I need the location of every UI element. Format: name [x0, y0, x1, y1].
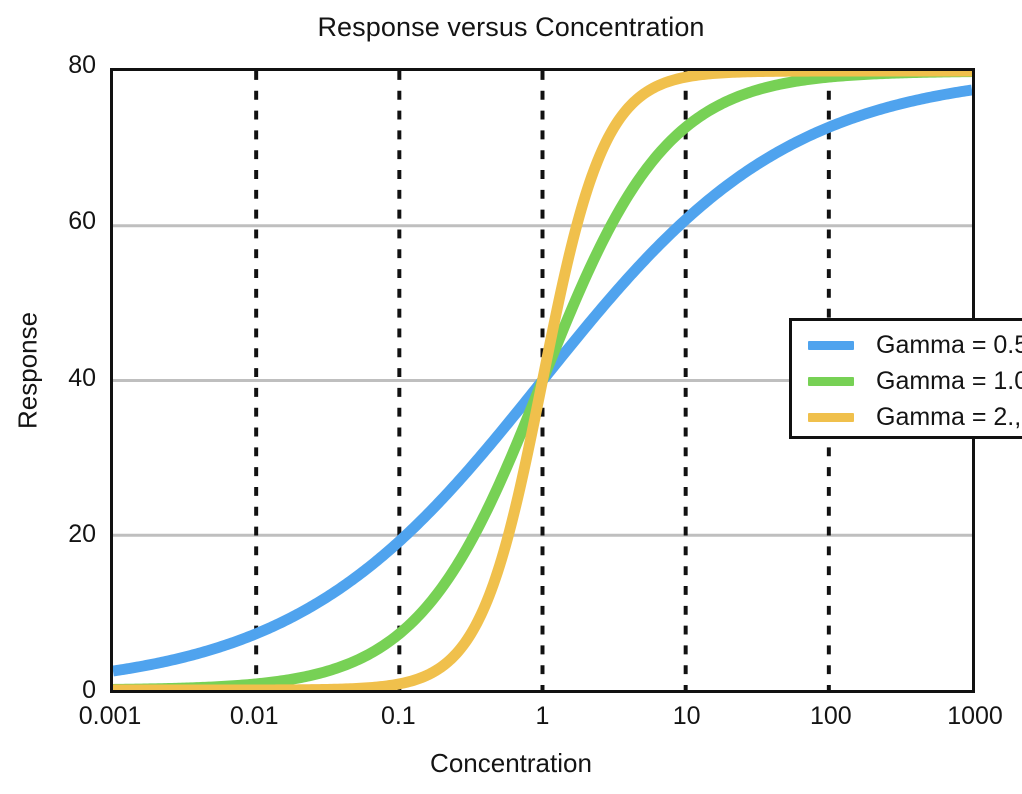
- x-tick-label: 0.1: [381, 702, 416, 731]
- y-tick-label: 60: [68, 207, 96, 236]
- legend-item-label: Gamma = 1.0: [876, 367, 1022, 396]
- legend-swatch-icon: [808, 377, 854, 386]
- y-tick-label: 80: [68, 51, 96, 80]
- legend-item-label: Gamma = 2.,0: [876, 403, 1022, 432]
- x-tick-label: 0.001: [79, 702, 142, 731]
- y-tick-label: 40: [68, 364, 96, 393]
- legend: Gamma = 0.5 Gamma = 1.0 Gamma = 2.,0: [789, 318, 1022, 439]
- legend-item[interactable]: Gamma = 1.0: [792, 363, 1022, 399]
- x-tick-label: 100: [810, 702, 852, 731]
- legend-swatch-icon: [808, 341, 854, 350]
- plot-area: Gamma = 0.5 Gamma = 1.0 Gamma = 2.,0: [110, 68, 975, 693]
- y-tick-label: 0: [82, 676, 96, 705]
- legend-swatch-icon: [808, 413, 854, 422]
- x-axis-title: Concentration: [0, 748, 1022, 779]
- legend-item-label: Gamma = 0.5: [876, 331, 1022, 360]
- legend-item[interactable]: Gamma = 2.,0: [792, 399, 1022, 435]
- legend-item[interactable]: Gamma = 0.5: [792, 327, 1022, 363]
- x-tick-label: 1: [536, 702, 550, 731]
- x-tick-label: 1000: [947, 702, 1003, 731]
- y-axis-title: Response: [13, 111, 44, 631]
- chart-figure: Response versus Concentration Response C…: [0, 0, 1022, 794]
- chart-title: Response versus Concentration: [0, 12, 1022, 43]
- y-tick-label: 20: [68, 520, 96, 549]
- x-tick-label: 10: [673, 702, 701, 731]
- x-tick-label: 0.01: [230, 702, 279, 731]
